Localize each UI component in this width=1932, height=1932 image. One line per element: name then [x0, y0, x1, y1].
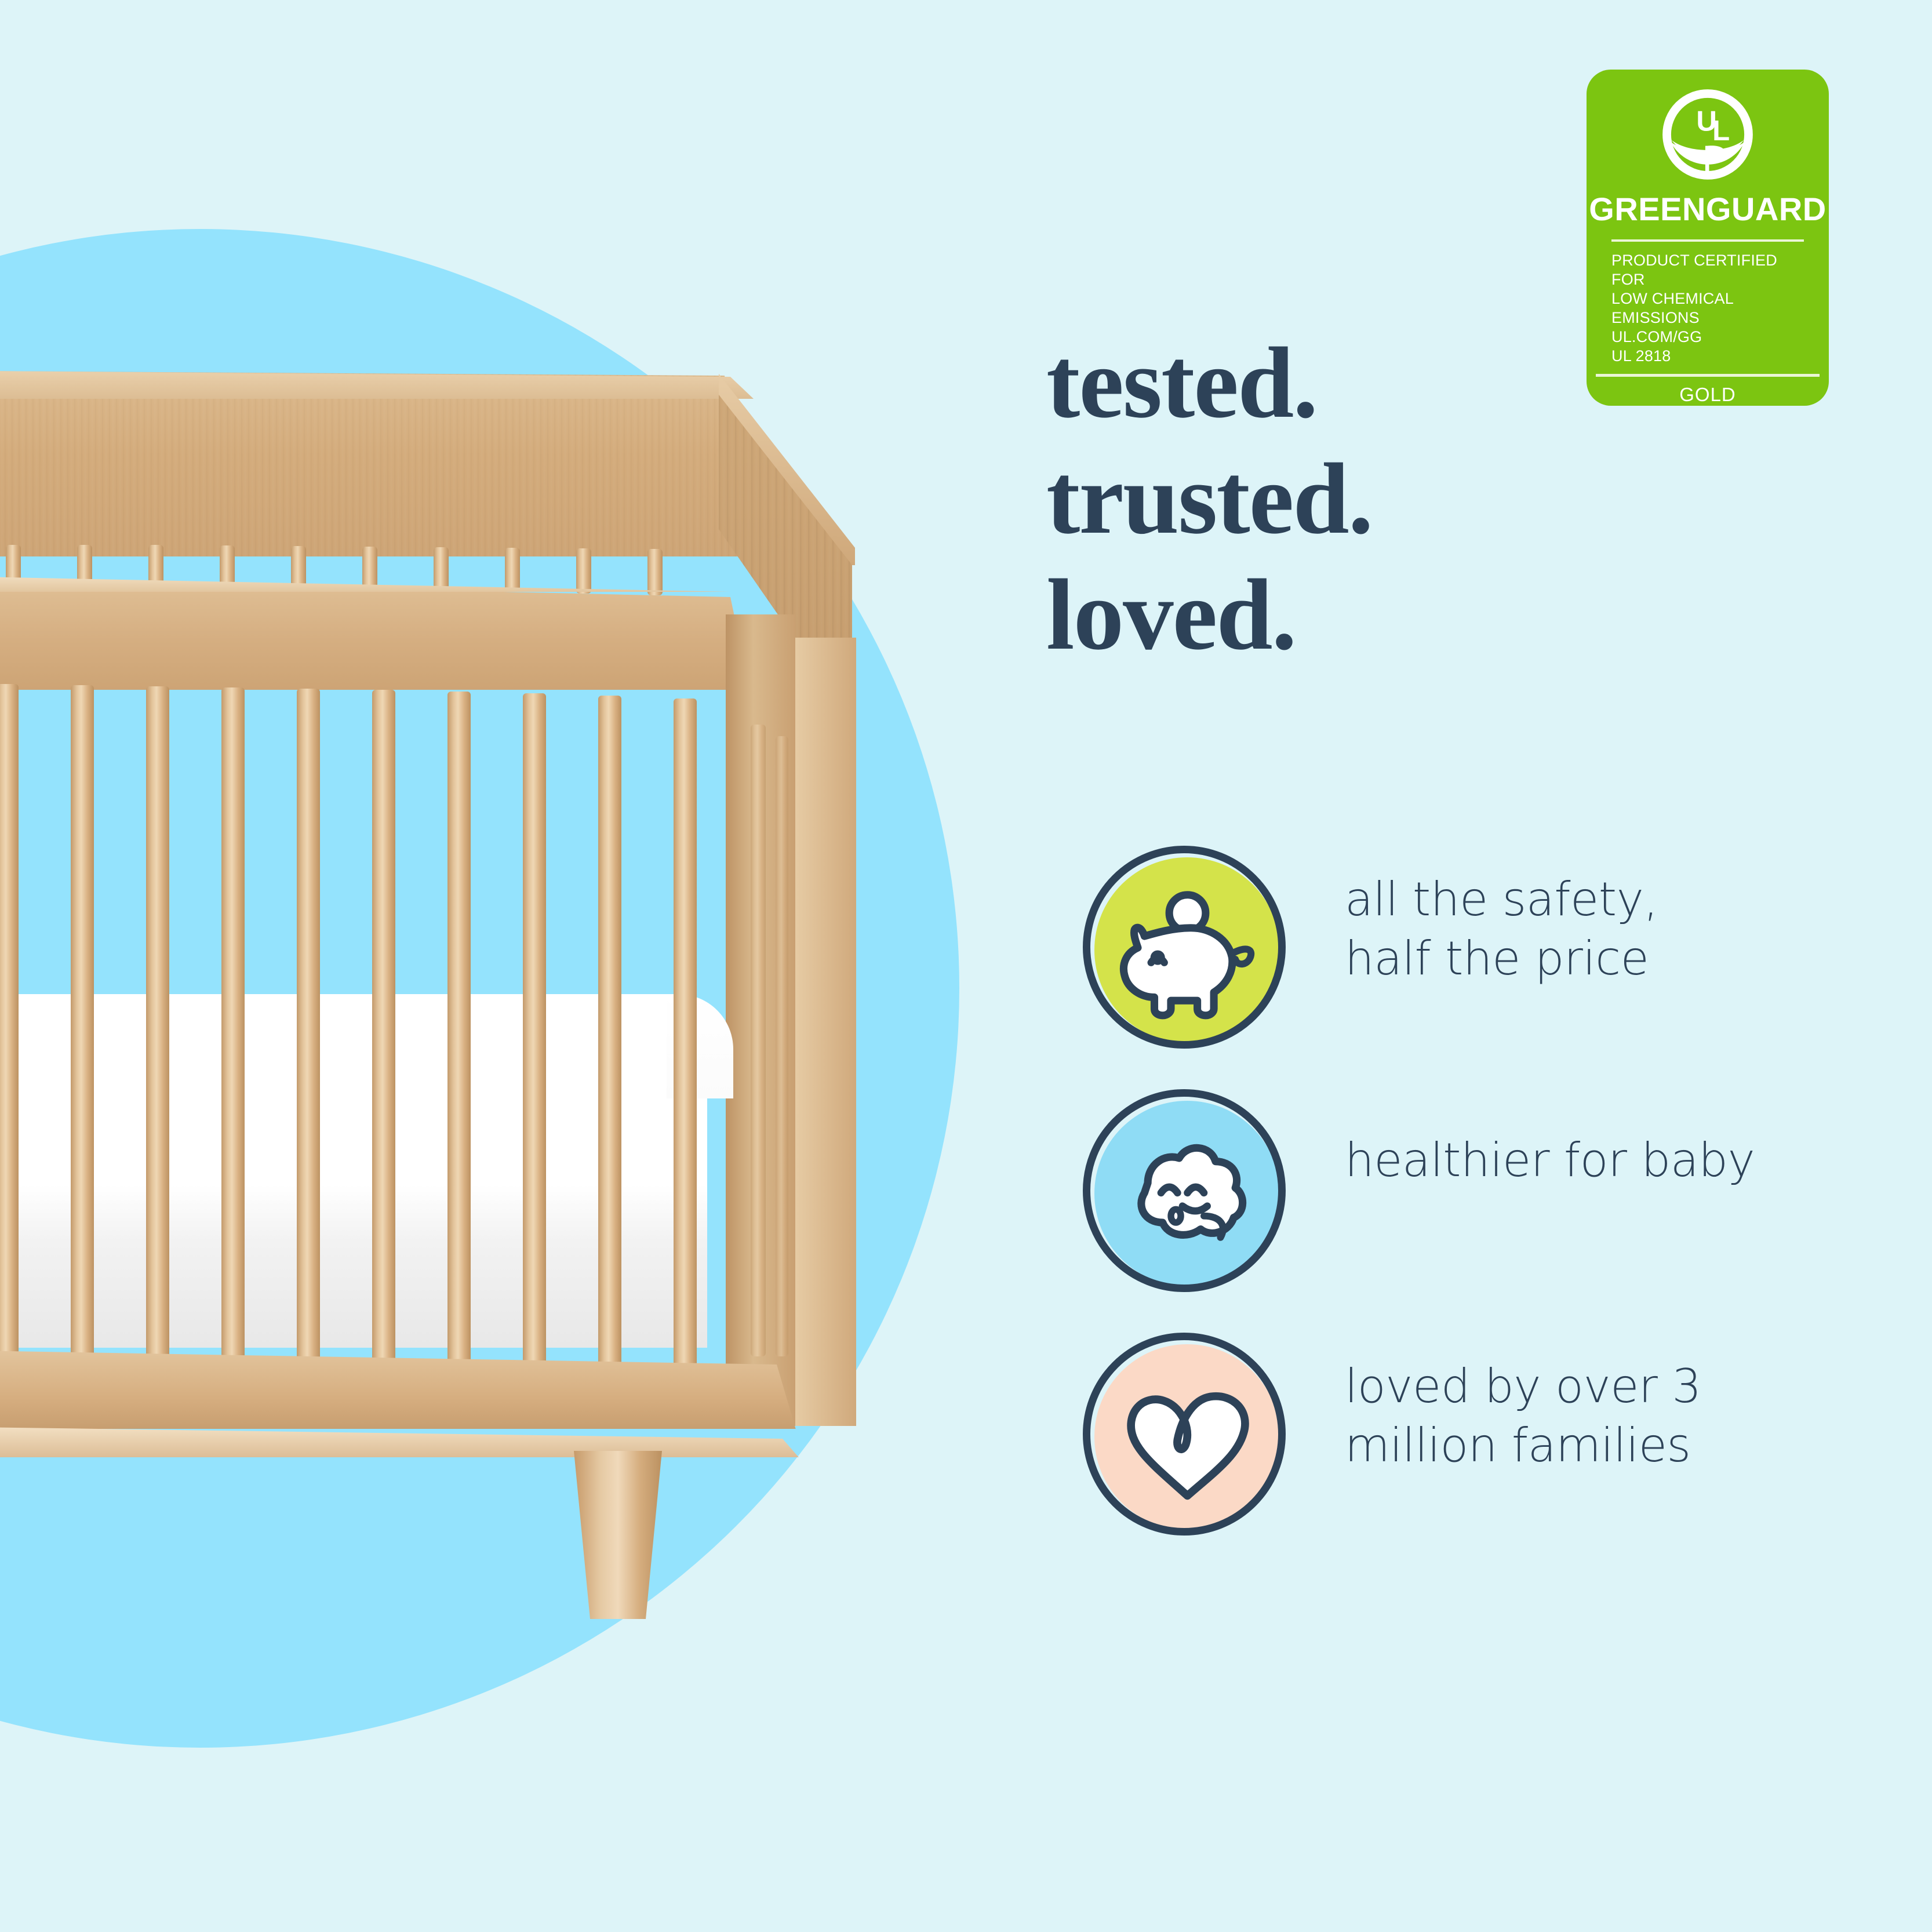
- headline-line-1: tested.: [1046, 325, 1800, 441]
- feature-label-loved-line1: loved by over 3: [1345, 1357, 1701, 1416]
- headline-line-3: loved.: [1046, 556, 1800, 672]
- ul-greenguard-leaf-icon: U L: [1656, 87, 1760, 182]
- feature-item-loved: loved by over 3 million families: [1078, 1330, 1849, 1574]
- crib-product-image: [0, 0, 904, 1635]
- crib-base-rail-lip: [0, 1427, 806, 1457]
- feature-label-price: all the safety, half the price: [1345, 870, 1658, 988]
- heart-icon: [1078, 1330, 1293, 1545]
- crib-back-panel: [0, 371, 748, 556]
- crib-leg: [574, 1451, 662, 1619]
- heart-glyph: [1105, 1357, 1270, 1522]
- feature-item-price: all the safety, half the price: [1078, 843, 1849, 1087]
- feature-label-price-line1: all the safety,: [1345, 870, 1658, 929]
- badge-line-1: PRODUCT CERTIFIED FOR: [1611, 251, 1804, 289]
- feature-label-health: healthier for baby: [1345, 1131, 1755, 1190]
- feature-list: all the safety, half the price healthi: [1078, 843, 1849, 1574]
- feature-label-health-line1: healthier for baby: [1345, 1131, 1755, 1190]
- crib-front-top-rail: [0, 580, 754, 690]
- badge-line-2: LOW CHEMICAL EMISSIONS: [1611, 289, 1804, 328]
- badge-divider-top: [1611, 239, 1804, 242]
- cloud-face-icon: [1078, 1087, 1293, 1301]
- crib-corner-post-face: [795, 638, 856, 1426]
- poster-canvas: U L GREENGUARD PRODUCT CERTIFIED FOR LOW…: [0, 0, 1932, 1932]
- feature-item-health: healthier for baby: [1078, 1087, 1849, 1330]
- feature-label-price-line2: half the price: [1345, 929, 1658, 988]
- page-headline: tested. trusted. loved.: [1046, 325, 1800, 672]
- crib-front-top-rail-highlight: [0, 577, 756, 592]
- piggy-bank-glyph: [1105, 870, 1270, 1035]
- svg-text:L: L: [1712, 115, 1730, 147]
- feature-label-loved-line2: million families: [1345, 1416, 1701, 1475]
- cloud-face-glyph: [1105, 1114, 1270, 1279]
- badge-title: GREENGUARD: [1589, 190, 1826, 228]
- feature-label-loved: loved by over 3 million families: [1345, 1357, 1701, 1475]
- piggy-bank-icon: [1078, 843, 1293, 1058]
- headline-line-2: trusted.: [1046, 441, 1800, 556]
